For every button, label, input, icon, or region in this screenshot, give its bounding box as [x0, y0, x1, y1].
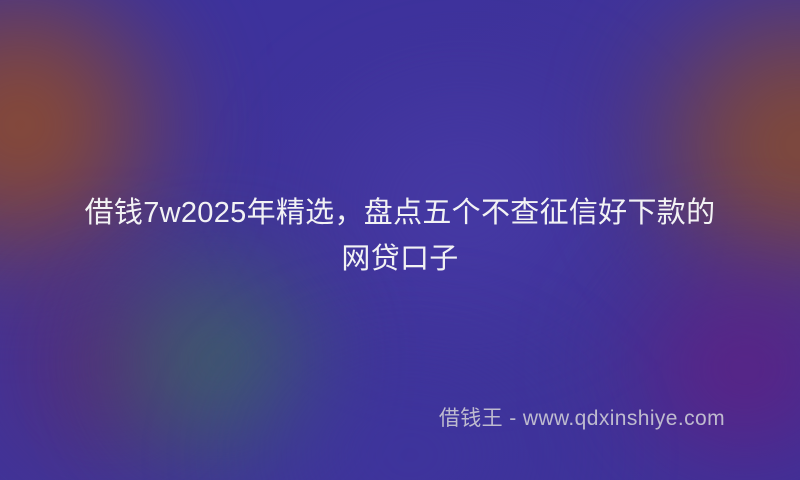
site-watermark: 借钱王 - www.qdxinshiye.com: [0, 405, 725, 433]
banner-title-line-1: 借钱7w2025年精选，盘点五个不查征信好下款的: [40, 190, 760, 236]
banner-title-line-2: 网贷口子: [40, 236, 760, 282]
banner-image: 借钱7w2025年精选，盘点五个不查征信好下款的 网贷口子 借钱王 - www.…: [0, 0, 800, 480]
banner-title: 借钱7w2025年精选，盘点五个不查征信好下款的 网贷口子: [40, 190, 760, 282]
